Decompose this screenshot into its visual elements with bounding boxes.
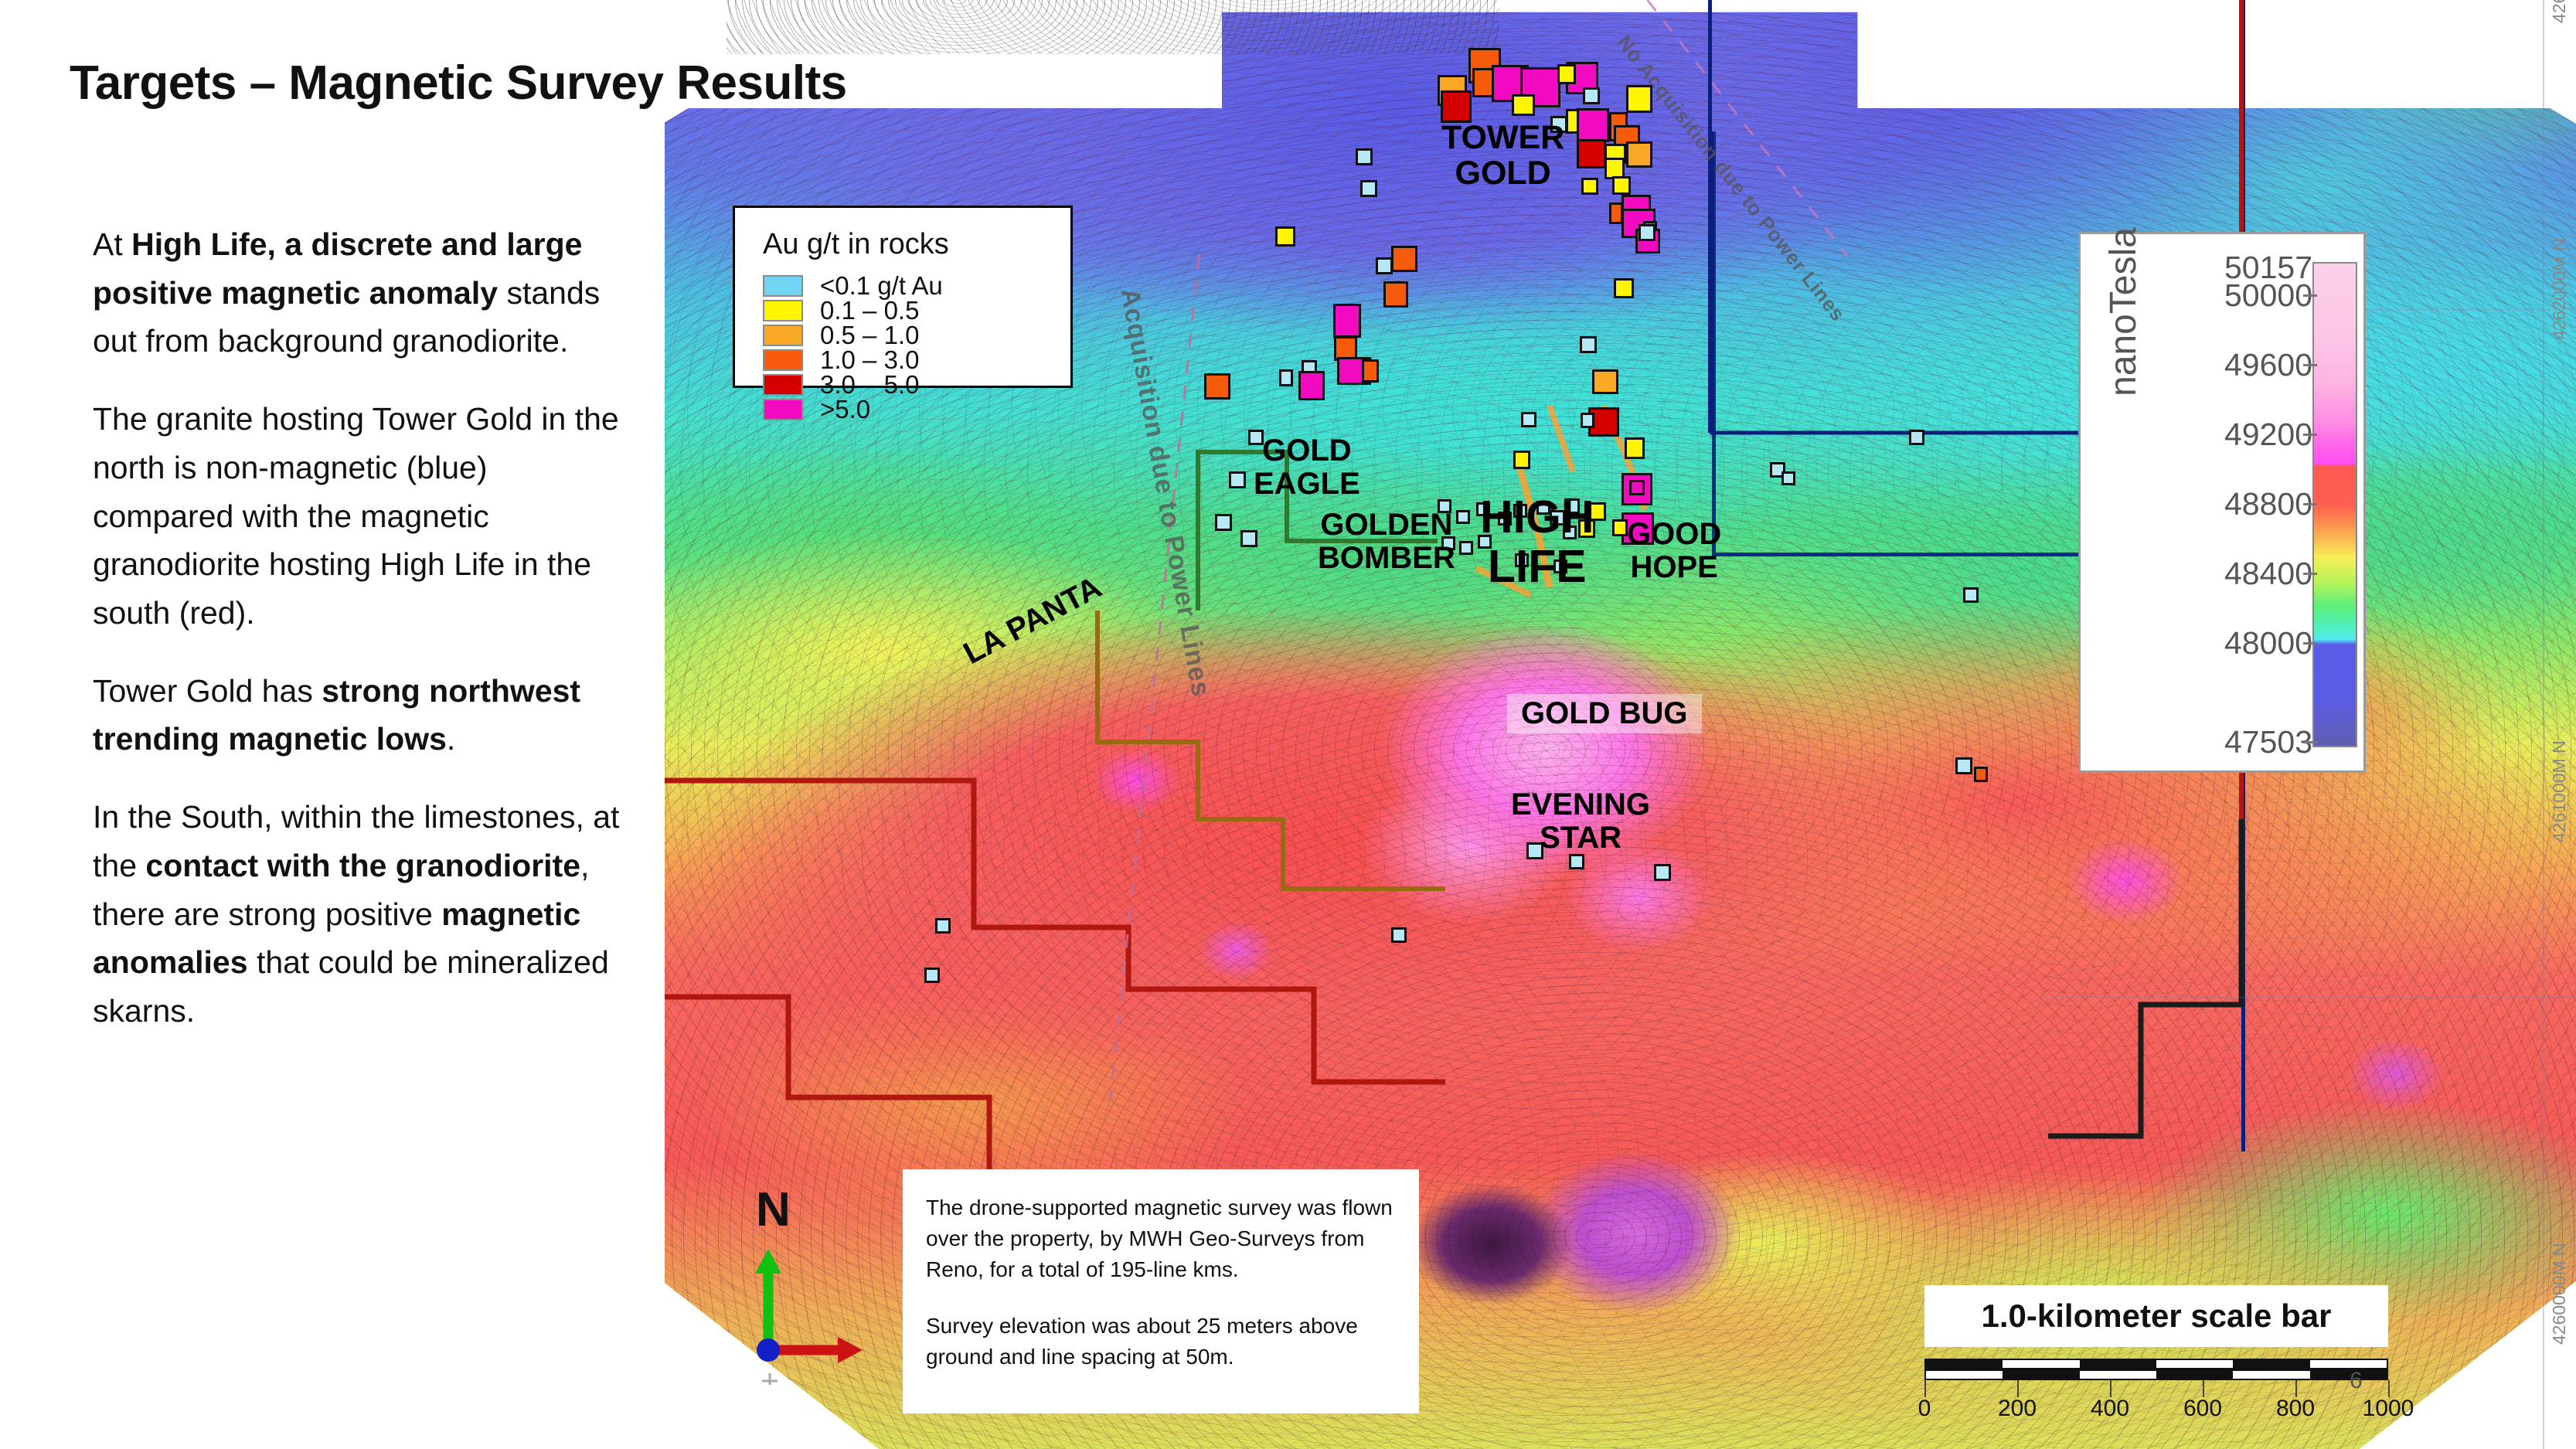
grid-line-vertical — [2543, 0, 2544, 1449]
scale-bar-row-bottom — [1924, 1369, 2388, 1380]
north-arrow-axes-icon — [742, 1238, 881, 1385]
au-legend-row-4: 3.0 – 5.0 — [763, 372, 1070, 397]
scale-tick-mark-1000 — [2388, 1380, 2390, 1397]
colorbar-tick-48800: 48800 — [2224, 486, 2312, 522]
sample-marker[interactable] — [1583, 87, 1600, 104]
map-label-golden-bomber: GOLDEN BOMBER — [1318, 509, 1455, 575]
grid-line-horizontal-2 — [2040, 997, 2576, 998]
north-arrow: N — [742, 1182, 881, 1399]
au-legend-row-5: >5.0 — [763, 397, 1070, 422]
sample-marker[interactable] — [1279, 369, 1293, 386]
sample-marker[interactable] — [1626, 141, 1652, 168]
sample-marker[interactable] — [1781, 471, 1795, 485]
coord-label-4260000: 4260000M N — [2549, 1243, 2570, 1345]
au-legend-row-1: 0.1 – 0.5 — [763, 298, 1070, 323]
sample-marker[interactable] — [1459, 541, 1473, 555]
scale-bar-title-box: 1.0-kilometer scale bar — [1924, 1285, 2388, 1347]
scale-bar-extra-tick: 6 — [2350, 1368, 2363, 1394]
sample-marker[interactable] — [1612, 519, 1628, 536]
sample-marker[interactable] — [924, 968, 940, 983]
colorbar-tick-48000: 48000 — [2224, 625, 2312, 662]
north-arrow-letter: N — [756, 1182, 791, 1237]
colorbar-gradient — [2312, 262, 2357, 747]
scale-tick-mark-200 — [2017, 1380, 2019, 1397]
sample-marker[interactable] — [1275, 226, 1295, 247]
sample-marker[interactable] — [1333, 304, 1361, 338]
sample-marker[interactable] — [1581, 413, 1594, 428]
au-legend-swatch-2 — [763, 325, 803, 346]
survey-note-paragraph-1: The drone-supported magnetic survey was … — [926, 1192, 1393, 1284]
sample-marker[interactable] — [1955, 757, 1972, 774]
scale-tick-label-0: 0 — [1918, 1396, 1931, 1422]
coord-label-4263000: 4263000M N — [2549, 0, 2570, 23]
sample-marker[interactable] — [1513, 451, 1530, 469]
sample-marker[interactable] — [1356, 148, 1373, 165]
scale-bar-graphic — [1924, 1359, 2388, 1382]
sample-marker[interactable] — [1569, 854, 1584, 869]
colorbar-tickmark-48800 — [2303, 503, 2317, 505]
map-label-good-hope: GOOD HOPE — [1627, 518, 1721, 584]
nanotesla-colorbar-panel: nanoTesla 501575000049600492004880048400… — [2078, 232, 2366, 773]
sample-marker[interactable] — [1580, 336, 1597, 353]
sample-marker[interactable] — [1362, 359, 1379, 383]
map-label-high-life: HIGH LIFE — [1480, 493, 1594, 591]
scale-tick-mark-800 — [2295, 1380, 2297, 1397]
scale-tick-mark-0 — [1924, 1380, 1926, 1397]
map-label-gold-eagle: GOLD EAGLE — [1254, 434, 1360, 501]
description-paragraph-2: The granite hosting Tower Gold in the no… — [93, 395, 634, 638]
au-legend-row-2: 0.5 – 1.0 — [763, 323, 1070, 348]
map-label-gold-bug: GOLD BUG — [1507, 694, 1702, 733]
sample-marker[interactable] — [935, 918, 951, 934]
colorbar-tick-47503: 47503 — [2224, 724, 2312, 760]
sample-marker[interactable] — [1577, 139, 1606, 168]
coord-label-4261000: 4261000M N — [2549, 740, 2570, 842]
au-legend-rows: <0.1 g/t Au0.1 – 0.50.5 – 1.01.0 – 3.03.… — [763, 274, 1070, 422]
scale-tick-mark-400 — [2110, 1380, 2112, 1397]
scale-tick-label-600: 600 — [2183, 1396, 2222, 1422]
sample-marker[interactable] — [1441, 90, 1472, 123]
slide-root: Acquisition due to Power Lines No Acquis… — [0, 0, 2576, 1449]
sample-marker[interactable] — [1360, 180, 1377, 197]
au-legend-swatch-5 — [763, 399, 803, 420]
sample-marker[interactable] — [1626, 85, 1652, 113]
survey-note-paragraph-2: Survey elevation was about 25 meters abo… — [926, 1311, 1393, 1372]
sample-marker[interactable] — [1577, 108, 1609, 142]
sample-marker[interactable] — [1215, 514, 1232, 531]
au-legend-title: Au g/t in rocks — [763, 228, 1070, 261]
description-paragraph-4: In the South, within the limestones, at … — [93, 793, 634, 1036]
sample-marker[interactable] — [1376, 257, 1393, 274]
scale-tick-label-800: 800 — [2276, 1396, 2315, 1422]
sample-marker[interactable] — [1629, 480, 1645, 495]
colorbar-tickmark-50000 — [2303, 294, 2317, 297]
colorbar-tick-labels: 5015750000496004920048800484004800047503 — [2173, 234, 2312, 770]
sample-marker[interactable] — [1229, 471, 1246, 488]
colorbar-tick-48400: 48400 — [2224, 556, 2312, 592]
colorbar-tickmark-48000 — [2303, 642, 2317, 645]
scale-bar-row-top — [1924, 1359, 2388, 1369]
scale-tick-label-400: 400 — [2091, 1396, 2129, 1422]
description-text: At High Life, a discrete and large posit… — [93, 220, 634, 1065]
map-label-evening-star: EVENING STAR — [1511, 788, 1650, 855]
sample-marker[interactable] — [1581, 178, 1598, 195]
au-legend-label-5: >5.0 — [820, 395, 870, 424]
colorbar-tickmark-48400 — [2303, 573, 2317, 575]
sample-marker[interactable] — [1963, 587, 1979, 603]
colorbar-tick-49200: 49200 — [2224, 417, 2312, 453]
sample-marker[interactable] — [1456, 510, 1470, 524]
sample-marker[interactable] — [1391, 246, 1417, 272]
scale-bar-title: 1.0-kilometer scale bar — [1982, 1298, 2332, 1335]
sample-marker[interactable] — [1240, 530, 1257, 547]
sample-marker[interactable] — [1298, 371, 1325, 400]
colorbar-tick-49600: 49600 — [2224, 347, 2312, 383]
colorbar-tickmark-49200 — [2303, 434, 2317, 436]
sample-marker[interactable] — [1383, 281, 1408, 308]
sample-marker[interactable] — [1638, 224, 1656, 241]
colorbar-tickmark-49600 — [2303, 364, 2317, 366]
colorbar-tickmark-47503 — [2303, 741, 2317, 743]
au-legend-row-0: <0.1 g/t Au — [763, 274, 1070, 298]
map-label-tower-gold: TOWER GOLD — [1441, 120, 1564, 192]
au-legend-swatch-0 — [763, 275, 803, 297]
scale-tick-label-200: 200 — [1998, 1396, 2037, 1422]
coord-label-4262000: 4262000M N — [2549, 238, 2570, 340]
sample-marker[interactable] — [1654, 864, 1671, 881]
sample-marker[interactable] — [1909, 430, 1924, 445]
sample-marker[interactable] — [1557, 64, 1576, 84]
sample-marker[interactable] — [1625, 437, 1645, 459]
sample-marker[interactable] — [1391, 927, 1407, 943]
scale-bar-ticks: 02004006008001000 — [1886, 1380, 2427, 1434]
sample-marker[interactable] — [1592, 369, 1618, 394]
sample-marker[interactable] — [1204, 373, 1230, 400]
description-paragraph-3: Tower Gold has strong northwest trending… — [93, 667, 634, 764]
sample-marker[interactable] — [1974, 767, 1988, 782]
au-legend-row-3: 1.0 – 3.0 — [763, 348, 1070, 372]
au-legend-swatch-1 — [763, 300, 803, 321]
sample-marker[interactable] — [1521, 412, 1536, 427]
colorbar-axis-label: nanoTesla — [2102, 227, 2145, 396]
au-legend-swatch-4 — [763, 374, 803, 396]
survey-note-box: The drone-supported magnetic survey was … — [903, 1169, 1419, 1413]
page-title: Targets – Magnetic Survey Results — [70, 56, 847, 111]
description-paragraph-1: At High Life, a discrete and large posit… — [93, 220, 634, 366]
sample-marker[interactable] — [1512, 94, 1535, 116]
sample-marker[interactable] — [1614, 278, 1634, 298]
au-grade-legend: Au g/t in rocks <0.1 g/t Au0.1 – 0.50.5 … — [733, 206, 1073, 388]
scale-tick-label-1000: 1000 — [2363, 1396, 2414, 1422]
sample-marker[interactable] — [1612, 176, 1631, 195]
scale-tick-mark-600 — [2203, 1380, 2204, 1397]
au-legend-swatch-3 — [763, 349, 803, 371]
colorbar-tick-50000: 50000 — [2224, 277, 2312, 314]
